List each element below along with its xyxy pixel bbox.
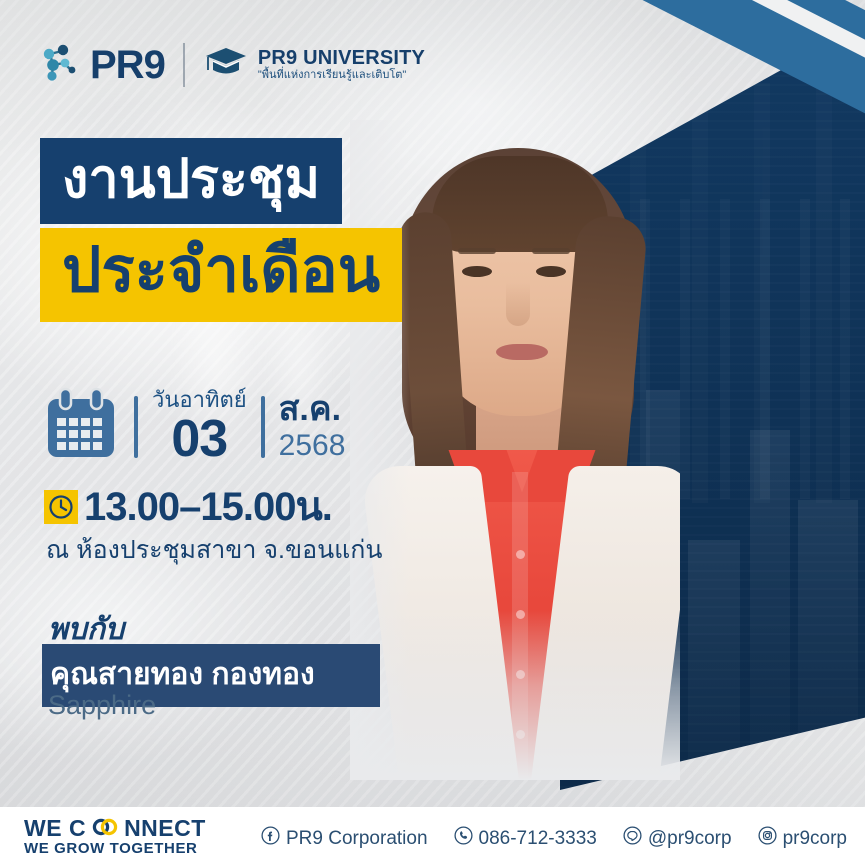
event-time-row: 13.00–15.00น. [44, 487, 332, 527]
instagram-icon [758, 826, 777, 851]
contact-facebook[interactable]: PR9 Corporation [261, 826, 428, 851]
contact-line-label: @pr9corp [648, 828, 732, 850]
pr9-university-logo: PR9 UNIVERSITY "พื้นที่แห่งการเรียนรู้แล… [203, 44, 425, 85]
we-connect-text-after: NNECT [124, 817, 206, 841]
line-icon [623, 826, 642, 851]
logo-divider [183, 43, 185, 87]
pr9-wordmark: PR9 [90, 45, 165, 85]
footer-band: WE C NNECT WE GROW TOGETHER [0, 807, 865, 865]
graduation-cap-icon [203, 44, 249, 85]
molecule-icon [40, 42, 80, 87]
phone-icon [454, 826, 473, 851]
date-month: ส.ค. [279, 392, 346, 428]
university-tagline: "พื้นที่แห่งการเรียนรู้และเติบโต" [258, 70, 425, 82]
we-connect-logo: WE C NNECT WE GROW TOGETHER [24, 817, 206, 858]
pr9-logo: PR9 [40, 42, 165, 87]
event-venue: ณ ห้องประชุมสาขา จ.ขอนแก่น [46, 530, 383, 570]
connect-rings-icon [92, 817, 118, 842]
contact-instagram-label: pr9corp [783, 828, 847, 850]
we-connect-text-before: WE C [24, 817, 86, 841]
contact-phone-label: 086-712-3333 [479, 828, 597, 850]
photo-bottom-fade [350, 610, 680, 780]
header-logos: PR9 PR9 UNIVERSITY "พื้นที่แห่งการเรียนร… [40, 42, 425, 87]
contact-phone[interactable]: 086-712-3333 [454, 826, 597, 851]
headline-line-1: งานประชุม [40, 138, 342, 224]
headline-block: งานประชุม ประจำเดือน [40, 138, 402, 322]
calendar-icon [42, 385, 120, 468]
footer-contacts: PR9 Corporation 086-712-3333 [261, 826, 847, 851]
clock-icon [44, 490, 78, 524]
facebook-icon [261, 826, 280, 851]
we-grow-together-text: WE GROW TOGETHER [24, 841, 206, 857]
headline-line-2: ประจำเดือน [40, 228, 402, 322]
contact-instagram[interactable]: pr9corp [758, 826, 847, 851]
speaker-rank: Sapphire [48, 690, 156, 721]
contact-line[interactable]: @pr9corp [623, 826, 732, 851]
date-year: 2568 [279, 430, 346, 462]
university-title: PR9 UNIVERSITY [258, 48, 425, 69]
date-day-number: 03 [152, 413, 247, 465]
poster-canvas: PR9 PR9 UNIVERSITY "พื้นที่แห่งการเรียนร… [0, 0, 865, 865]
date-day-of-week: วันอาทิตย์ [152, 389, 247, 411]
date-divider-1 [134, 396, 138, 458]
date-divider-2 [261, 396, 265, 458]
contact-facebook-label: PR9 Corporation [286, 828, 428, 850]
event-time: 13.00–15.00น. [84, 487, 332, 527]
event-date-row: วันอาทิตย์ 03 ส.ค. 2568 [42, 385, 345, 468]
